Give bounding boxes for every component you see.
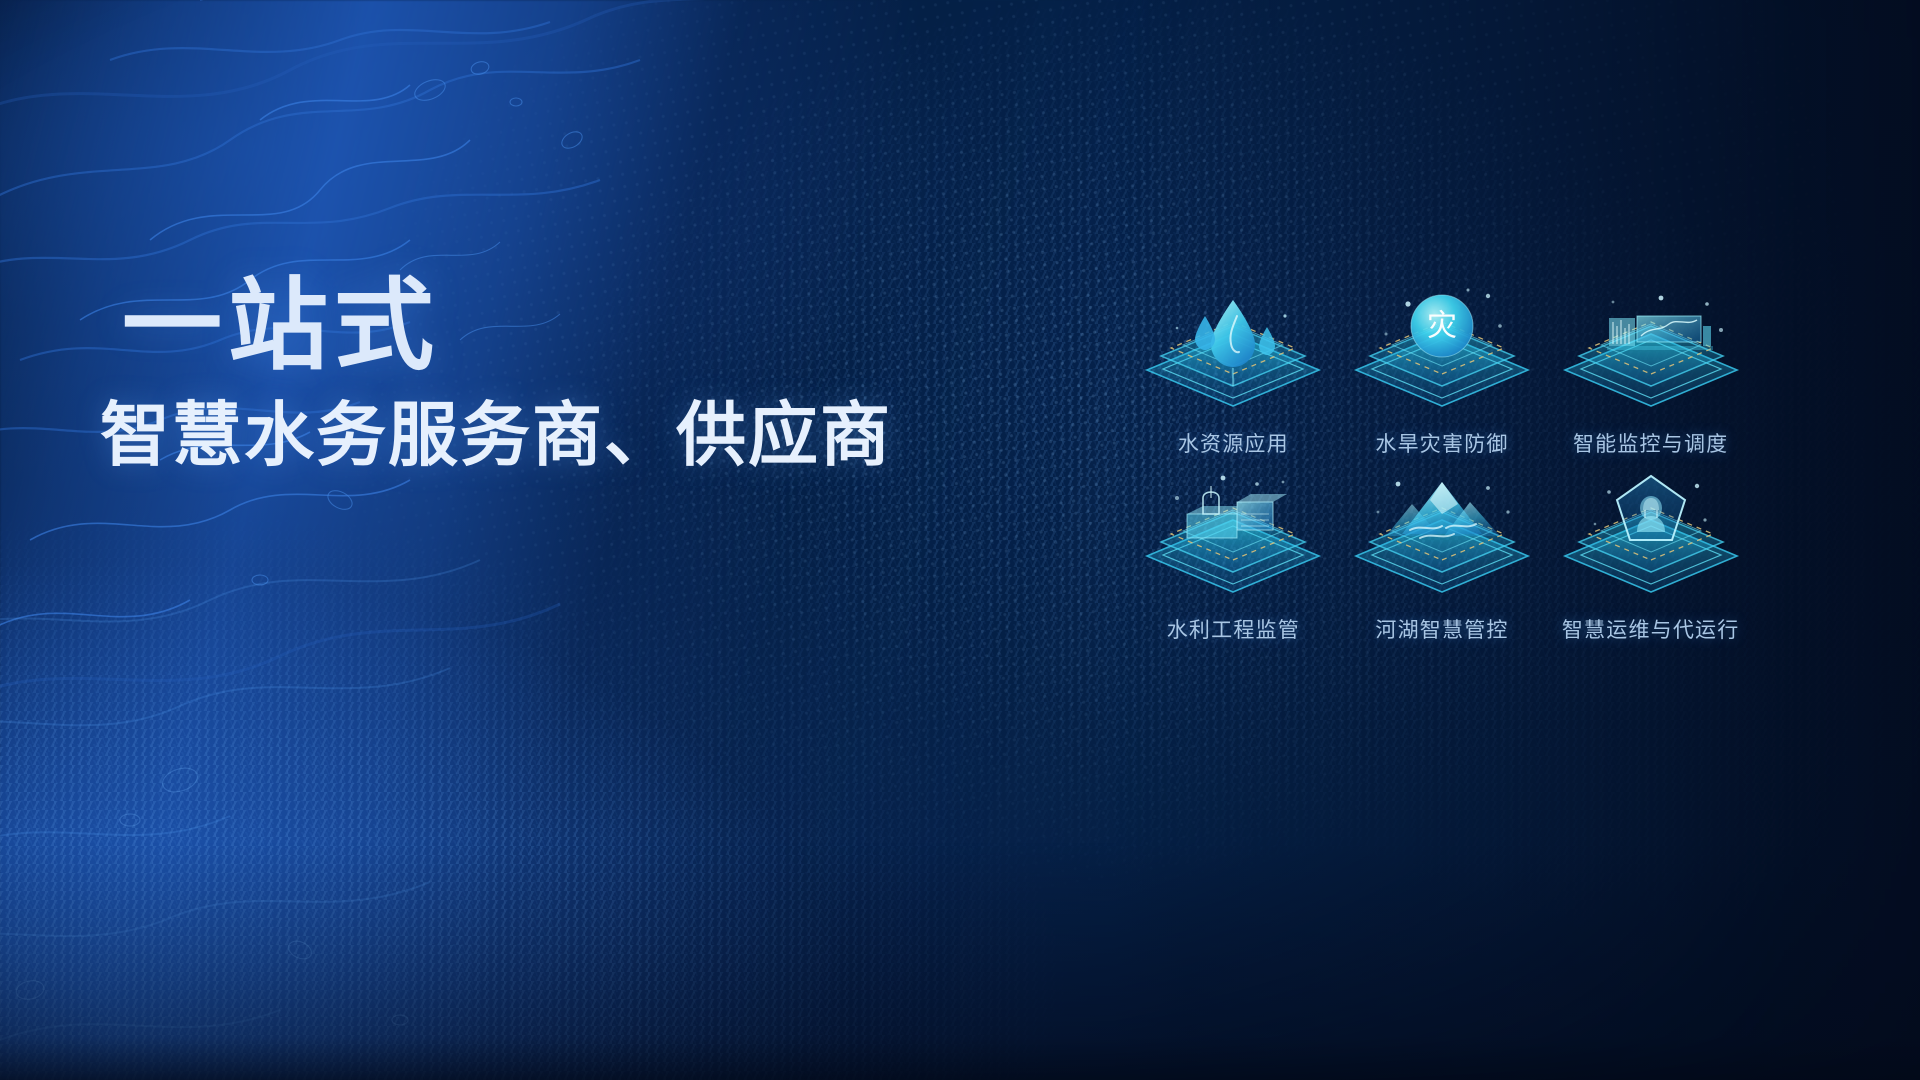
service-card-smart-ops-agent-operation[interactable]: 智慧运维与代运行 [1549, 462, 1752, 644]
service-label: 智能监控与调度 [1573, 428, 1728, 458]
service-card-flood-drought-disaster-defense[interactable]: 灾 水旱灾害防御 [1341, 276, 1544, 458]
disaster-badge-character: 灾 [1427, 310, 1457, 343]
page-title-sub: 智慧水务服务商、供应商 [100, 400, 1000, 470]
service-label: 水旱灾害防御 [1375, 428, 1508, 458]
service-card-water-conservancy-project-supervision[interactable]: 水利工程监管 [1132, 462, 1335, 644]
service-label: 智慧运维与代运行 [1562, 614, 1740, 644]
water-drop-icon [1133, 282, 1333, 414]
slide-canvas: 一站式 智慧水务服务商、供应商 [0, 0, 1920, 1080]
headline-block: 一站式 智慧水务服务商、供应商 [100, 276, 1000, 470]
service-label: 水利工程监管 [1167, 614, 1300, 644]
shield-pentagon-icon [1551, 468, 1751, 600]
dam-building-icon [1133, 468, 1333, 600]
service-card-intelligent-monitoring-dispatch[interactable]: 智能监控与调度 [1549, 276, 1752, 458]
water-ink-texture-bottom [0, 520, 700, 1080]
monitor-wall-icon [1551, 282, 1751, 414]
service-label: 河湖智慧管控 [1375, 614, 1508, 644]
service-card-water-resource-application[interactable]: 水资源应用 [1132, 276, 1335, 458]
service-icon-grid: 水资源应用 [1132, 276, 1752, 644]
disaster-sphere-icon: 灾 [1342, 282, 1542, 414]
page-title-main: 一站式 [122, 276, 1000, 376]
service-label: 水资源应用 [1178, 428, 1289, 458]
service-card-river-lake-smart-control[interactable]: 河湖智慧管控 [1341, 462, 1544, 644]
mountain-river-icon [1342, 468, 1542, 600]
